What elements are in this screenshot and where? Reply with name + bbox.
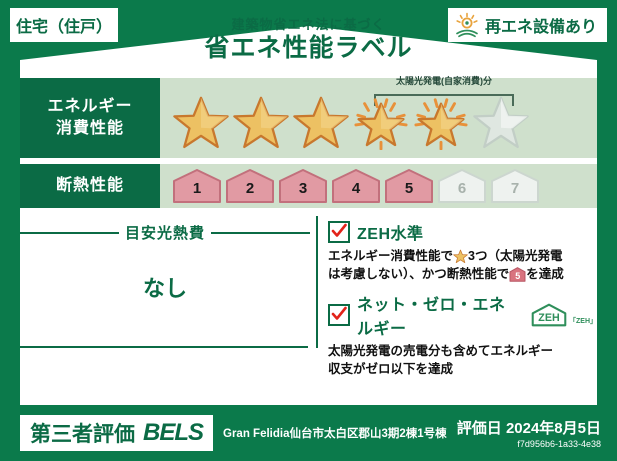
bels-badge: 第三者評価 BELS — [20, 415, 213, 451]
utility-cost-label: 目安光熱費 — [125, 222, 205, 243]
insulation-performance-row: 断熱性能 1 2 3 — [20, 164, 597, 208]
building-type-tag: 住宅（住戸） — [10, 8, 118, 42]
zeh-desc-part2: は考慮しない）、かつ断熱性能で — [328, 267, 509, 281]
star-2-filled — [232, 94, 290, 150]
evaluation-date: 評価日 2024年8月5日 — [457, 417, 601, 438]
energy-performance-row: エネルギー 消費性能 太陽光発電(自家消費)分 — [20, 78, 597, 158]
zeh-standard-header: ZEH水準 — [328, 220, 597, 244]
footer: 第三者評価 BELS Gran Felidia仙台市太白区郡山3期2棟1号棟 評… — [0, 405, 617, 461]
insulation-level-1: 1 — [172, 169, 222, 203]
star-5-filled-solar — [412, 94, 470, 150]
zeh-item-standard: ZEH水準 エネルギー消費性能で3つ（太陽光発電 は考慮しない）、かつ断熱性能で… — [328, 220, 597, 283]
insulation-label: 断熱性能 — [56, 175, 124, 197]
mini-house-value: 5 — [509, 267, 526, 282]
zeh-standard-checkbox[interactable] — [328, 221, 350, 243]
evaluation-info: 評価日 2024年8月5日 f7d956b6-1a33-4e38 — [457, 417, 601, 449]
zeh-net-zero-title: ネット・ゼロ・エネルギー — [357, 291, 520, 339]
zeh-block: ZEH水準 エネルギー消費性能で3つ（太陽光発電 は考慮しない）、かつ断熱性能で… — [328, 216, 597, 366]
insulation-level-2-value: 2 — [225, 180, 275, 197]
star-1-filled — [172, 94, 230, 150]
zeh-desc-part1: エネルギー消費性能で — [328, 249, 453, 263]
zeh-net-zero-desc-line2: 収支がゼロ以下を達成 — [328, 362, 453, 376]
zeh-item-net-zero: ネット・ゼロ・エネルギー ZEH 「ZEH」 太陽光発電の売電分も含めてエネルギ… — [328, 291, 597, 378]
third-party-eval-label: 第三者評価 — [30, 418, 135, 448]
svg-text:ZEH: ZEH — [538, 312, 560, 324]
zeh-desc-part3: を達成 — [526, 267, 564, 281]
insulation-levels: 1 2 3 4 5 — [160, 169, 540, 203]
insulation-level-7-value: 7 — [490, 180, 540, 197]
zeh-standard-title: ZEH水準 — [357, 220, 424, 244]
insulation-level-1-value: 1 — [172, 180, 222, 197]
star-rating — [160, 94, 530, 150]
vertical-divider — [316, 216, 318, 348]
utility-cost-heading: 目安光熱費 — [20, 222, 310, 243]
renewable-equipment-badge: 再エネ設備あり — [448, 8, 607, 42]
zeh-logo-icon: ZEH 「ZEH」 — [530, 303, 597, 327]
zeh-net-zero-header: ネット・ゼロ・エネルギー ZEH 「ZEH」 — [328, 291, 597, 339]
bels-logo-text: BELS — [143, 419, 203, 447]
label-content: エネルギー 消費性能 太陽光発電(自家消費)分 — [20, 78, 597, 449]
lower-section: 目安光熱費 なし ZEH水準 エネルギー消費性 — [20, 216, 597, 366]
insulation-level-5-value: 5 — [384, 180, 434, 197]
zeh-net-zero-checkbox[interactable] — [328, 304, 350, 326]
energy-performance-label-box: エネルギー 消費性能 — [20, 78, 160, 158]
star-6-empty — [472, 94, 530, 150]
mini-house-icon: 5 — [509, 267, 526, 282]
energy-star-area: 太陽光発電(自家消費)分 — [160, 78, 597, 158]
building-name: Gran Felidia仙台市太白区郡山3期2棟1号棟 — [223, 425, 447, 441]
star-4-filled-solar — [352, 94, 410, 150]
zeh-net-zero-description: 太陽光発電の売電分も含めてエネルギー 収支がゼロ以下を達成 — [328, 342, 597, 378]
insulation-level-6-value: 6 — [437, 180, 487, 197]
insulation-level-7: 7 — [490, 169, 540, 203]
energy-performance-label: 住宅（住戸） 再エネ設備あり — [0, 0, 617, 461]
insulation-level-area: 1 2 3 4 5 — [160, 164, 597, 208]
utility-cost-block: 目安光熱費 なし — [20, 216, 316, 366]
insulation-level-2: 2 — [225, 169, 275, 203]
zeh-standard-description: エネルギー消費性能で3つ（太陽光発電 は考慮しない）、かつ断熱性能で5を達成 — [328, 247, 597, 283]
insulation-level-4-value: 4 — [331, 180, 381, 197]
evaluation-id: f7d956b6-1a33-4e38 — [457, 439, 601, 449]
building-type-label: 住宅（住戸） — [16, 13, 112, 37]
insulation-level-5: 5 — [384, 169, 434, 203]
insulation-level-4: 4 — [331, 169, 381, 203]
zeh-desc-star-text: 3つ（太陽光発電 — [468, 249, 562, 263]
cost-rule-left — [20, 232, 119, 234]
insulation-level-3: 3 — [278, 169, 328, 203]
sun-solar-icon — [454, 12, 480, 38]
utility-cost-value: なし — [20, 271, 310, 303]
zeh-logo-sublabel: 「ZEH」 — [569, 316, 597, 327]
evaluation-date-value: 2024年8月5日 — [506, 420, 601, 437]
insulation-level-3-value: 3 — [278, 180, 328, 197]
star-3-filled — [292, 94, 350, 150]
insulation-performance-label-box: 断熱性能 — [20, 164, 160, 208]
energy-label-line2: 消費性能 — [56, 118, 124, 140]
cost-rule-bottom — [20, 346, 308, 348]
cost-rule-right — [211, 232, 310, 234]
mini-star-icon — [453, 249, 468, 264]
insulation-level-6: 6 — [437, 169, 487, 203]
energy-label-line1: エネルギー — [47, 96, 132, 118]
zeh-net-zero-desc-line1: 太陽光発電の売電分も含めてエネルギー — [328, 344, 553, 358]
renewable-label: 再エネ設備あり — [485, 13, 597, 37]
evaluation-date-label: 評価日 — [457, 420, 502, 437]
